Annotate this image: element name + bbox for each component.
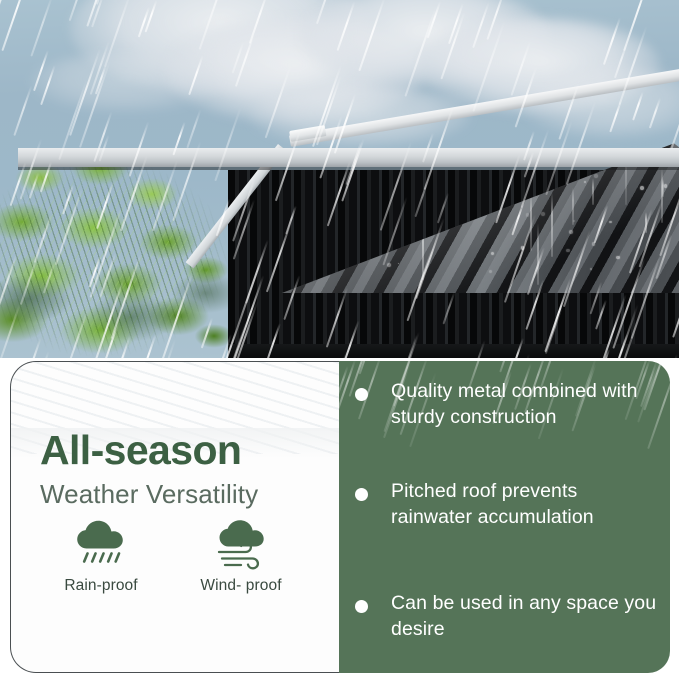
feature-cards: All-season Weather Versatility: [0, 358, 679, 679]
shed-wall-base: [228, 344, 679, 358]
list-item-label: Pitched roof prevents rainwater accumula…: [391, 479, 660, 530]
feature-rain-proof: Rain-proof: [31, 520, 171, 595]
cloud: [30, 52, 220, 112]
benefits-card: Quality metal combined with sturdy const…: [339, 361, 670, 673]
page-title: All-season: [40, 430, 241, 471]
roof-eave-shadow: [18, 167, 679, 170]
wind-cloud-icon: [171, 520, 311, 570]
product-photo: [0, 0, 679, 358]
bullet-dot-icon: [355, 388, 368, 401]
benefits-list: Quality metal combined with sturdy const…: [339, 361, 670, 673]
roof-eave-trim: [18, 148, 679, 167]
list-item: Quality metal combined with sturdy const…: [350, 379, 660, 430]
list-item: Pitched roof prevents rainwater accumula…: [350, 479, 660, 530]
feature-wind-proof: Wind- proof: [171, 520, 311, 595]
list-item: Can be used in any space you desire: [350, 591, 660, 642]
weather-feature-row: Rain-proof Wind- proof: [31, 520, 331, 595]
bullet-dot-icon: [355, 488, 368, 501]
page-subtitle: Weather Versatility: [40, 481, 258, 507]
feature-label: Rain-proof: [31, 577, 171, 595]
rain-cloud-icon: [31, 520, 171, 570]
bullet-dot-icon: [355, 600, 368, 613]
list-item-label: Can be used in any space you desire: [391, 591, 660, 642]
product-feature-graphic: All-season Weather Versatility: [0, 0, 679, 679]
feature-label: Wind- proof: [171, 577, 311, 595]
list-item-label: Quality metal combined with sturdy const…: [391, 379, 660, 430]
all-season-card: All-season Weather Versatility: [10, 361, 339, 673]
